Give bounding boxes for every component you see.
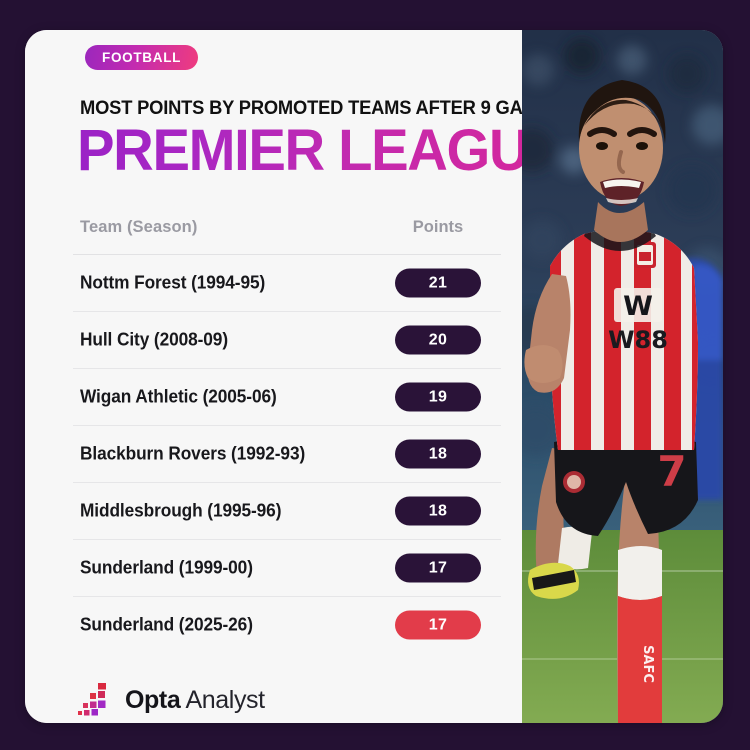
team-name: Middlesbrough (1995-96): [80, 501, 281, 522]
points-pill: 18: [395, 497, 481, 526]
points-pill: 19: [395, 383, 481, 412]
opta-analyst-logo: Opta Analyst: [77, 680, 265, 720]
table-row: Middlesbrough (1995-96) 18: [73, 483, 501, 540]
team-name: Blackburn Rovers (1992-93): [80, 444, 305, 465]
category-badge: FOOTBALL: [85, 45, 198, 70]
points-pill: 20: [395, 326, 481, 355]
team-name: Sunderland (1999-00): [80, 558, 253, 579]
points-pill-highlighted: 17: [395, 611, 481, 640]
table-row: Nottm Forest (1994-95) 21: [73, 255, 501, 312]
table-row: Sunderland (2025-26) 17: [73, 597, 501, 653]
page-title: PREMIER LEAGUE: [77, 122, 564, 180]
column-header-points: Points: [395, 218, 481, 237]
infographic-root: FOOTBALL MOST POINTS BY PROMOTED TEAMS A…: [0, 0, 750, 750]
brand-name: Opta Analyst: [125, 686, 265, 715]
team-name: Hull City (2008-09): [80, 330, 228, 351]
table-row: Blackburn Rovers (1992-93) 18: [73, 426, 501, 483]
table-header-row: Team (Season) Points: [73, 216, 501, 255]
standings-table: Team (Season) Points Nottm Forest (1994-…: [73, 216, 501, 653]
table-row: Hull City (2008-09) 20: [73, 312, 501, 369]
team-name: Sunderland (2025-26): [80, 615, 253, 636]
column-header-team: Team (Season): [80, 218, 197, 237]
team-name: Nottm Forest (1994-95): [80, 273, 265, 294]
brand-opta: Opta: [125, 686, 180, 714]
brand-analyst: Analyst: [180, 686, 264, 714]
opta-stairs-icon: [77, 683, 115, 717]
team-name: Wigan Athletic (2005-06): [80, 387, 277, 408]
svg-text:W: W: [623, 291, 653, 322]
table-row: Wigan Athletic (2005-06) 19: [73, 369, 501, 426]
content-card: FOOTBALL MOST POINTS BY PROMOTED TEAMS A…: [25, 30, 723, 723]
card-left-panel: FOOTBALL MOST POINTS BY PROMOTED TEAMS A…: [25, 30, 522, 723]
table-row: Sunderland (1999-00) 17: [73, 540, 501, 597]
svg-text:SAFC: SAFC: [640, 645, 655, 683]
svg-text:W88: W88: [608, 326, 668, 354]
player-photo: SAFC 7: [522, 30, 723, 723]
points-pill: 17: [395, 554, 481, 583]
svg-text:7: 7: [657, 447, 686, 496]
points-pill: 21: [395, 269, 481, 298]
kicker-text: MOST POINTS BY PROMOTED TEAMS AFTER 9 GA…: [80, 97, 562, 120]
points-pill: 18: [395, 440, 481, 469]
